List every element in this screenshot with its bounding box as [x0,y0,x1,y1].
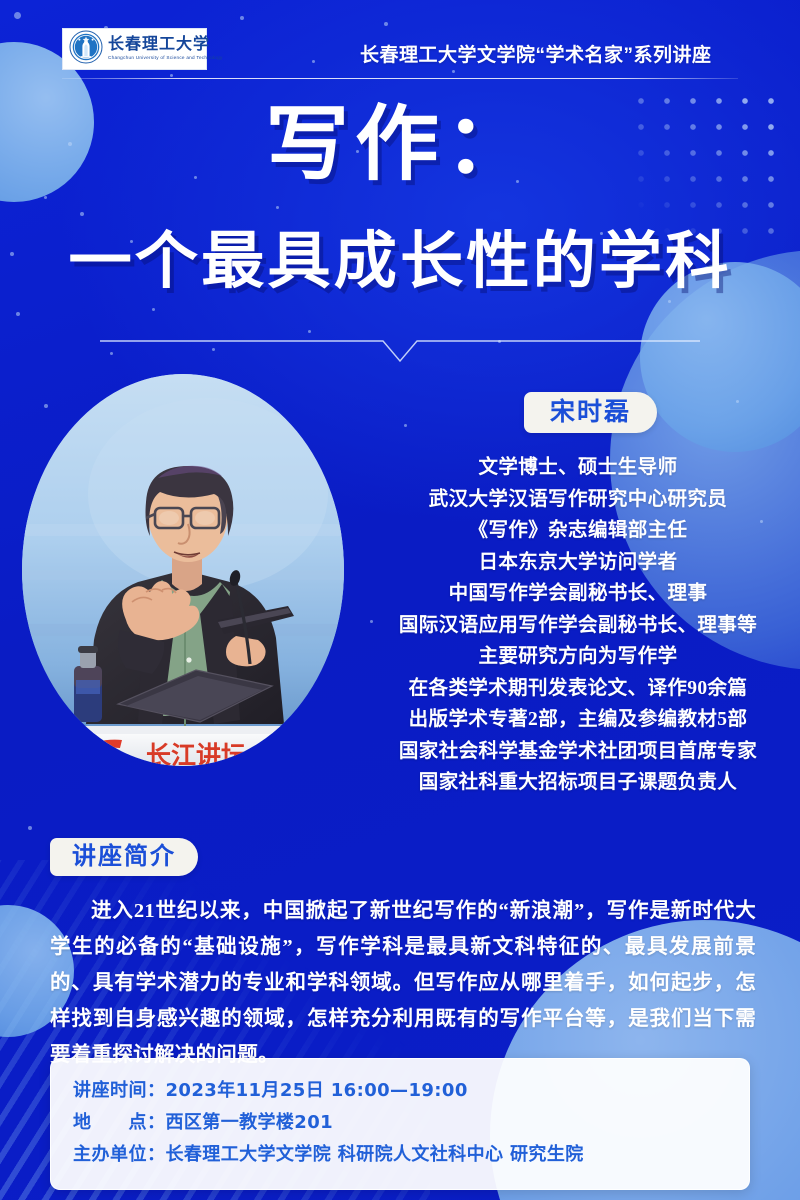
bio-line: 国际汉语应用写作学会副秘书长、理事等 [372,610,784,642]
bio-line: 文学博士、硕士生导师 [372,452,784,484]
intro-paragraph: 进入21世纪以来，中国掀起了新世纪写作的“新浪潮”，写作是新时代大学生的必备的“… [50,893,756,1073]
lecture-poster: 长春理工大学 Changchun University of Science a… [0,0,800,1200]
intro-section-badge: 讲座简介 [50,838,198,876]
title-line-1: 写作： [0,104,800,186]
info-value-time: 2023年11月25日 16:00—19:00 [166,1075,468,1107]
info-label-organizer: 主办单位： [73,1139,166,1171]
info-row-location: 地 点： 西区第一教学楼201 [73,1107,727,1139]
info-value-location: 西区第一教学楼201 [166,1107,334,1139]
bio-line: 武汉大学汉语写作研究中心研究员 [372,484,784,516]
info-row-organizer: 主办单位： 长春理工大学文学院 科研院人文社科中心 研究生院 [73,1139,727,1171]
university-logo: 长春理工大学 Changchun University of Science a… [62,28,207,70]
bio-line: 国家社会科学基金学术社团项目首席专家 [372,736,784,768]
header-divider-line [62,78,738,79]
info-row-time: 讲座时间： 2023年11月25日 16:00—19:00 [73,1075,727,1107]
title-line-2: 一个最具成长性的学科 [0,230,800,292]
bio-line: 中国写作学会副秘书长、理事 [372,578,784,610]
speaker-bio-list: 文学博士、硕士生导师 武汉大学汉语写作研究中心研究员 《写作》杂志编辑部主任 日… [372,452,784,799]
series-title: 长春理工大学文学院“学术名家”系列讲座 [360,40,712,67]
bio-line: 主要研究方向为写作学 [372,641,784,673]
info-label-time: 讲座时间： [73,1075,166,1107]
title-divider [0,334,800,368]
bio-line: 国家社科重大招标项目子课题负责人 [372,767,784,799]
speaker-name-badge: 宋时磊 [524,392,657,433]
info-value-organizer: 长春理工大学文学院 科研院人文社科中心 研究生院 [166,1139,584,1171]
university-emblem-icon [69,30,103,69]
bio-line: 在各类学术期刊发表论文、译作90余篇 [372,673,784,705]
event-info-box: 讲座时间： 2023年11月25日 16:00—19:00 地 点： 西区第一教… [50,1058,750,1190]
university-name-en: Changchun University of Science and Tech… [108,56,223,61]
speaker-photo: 长江讲坛 [22,374,344,766]
bio-line: 《写作》杂志编辑部主任 [372,515,784,547]
poster-header: 长春理工大学 Changchun University of Science a… [0,0,800,84]
university-name-cn: 长春理工大学 [108,37,216,53]
bio-line: 日本东京大学访问学者 [372,547,784,579]
bio-line: 出版学术专著2部，主编及参编教材5部 [372,704,784,736]
university-logo-text: 长春理工大学 Changchun University of Science a… [108,37,216,60]
info-label-location: 地 点： [73,1107,166,1139]
page-title: 写作： 一个最具成长性的学科 [0,104,800,292]
